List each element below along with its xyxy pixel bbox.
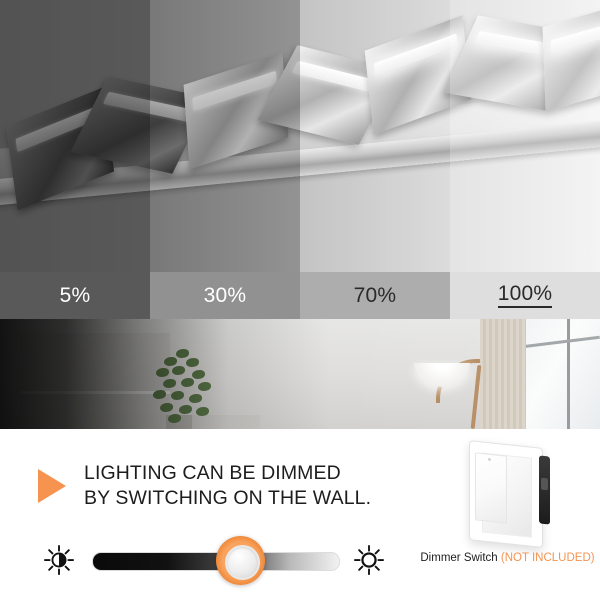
switch-led-indicator-icon [488, 458, 491, 461]
brightness-low-icon [44, 545, 74, 575]
brightness-band-overlay [450, 0, 600, 272]
callout-headline-line2: BY SWITCHING ON THE WALL. [84, 486, 371, 511]
brightness-level-70: 70% [300, 272, 450, 319]
brightness-level-30: 30% [150, 272, 300, 319]
play-triangle-icon [38, 469, 66, 503]
switch-side-slider-nub [541, 478, 548, 491]
brightness-level-100: 100% [450, 272, 600, 319]
dimmer-slider[interactable] [44, 537, 384, 585]
brightness-level-5: 5% [0, 272, 150, 319]
brightness-band-overlay [0, 0, 150, 272]
brightness-level-label: 100% [498, 283, 553, 308]
callout-headline: LIGHTING CAN BE DIMMED BY SWITCHING ON T… [84, 461, 371, 512]
dimmer-switch-product-image [455, 438, 575, 550]
product-infographic: 5% 30% 70% 100% [0, 0, 600, 600]
brightness-level-label: 70% [354, 285, 397, 307]
room-scene-photo [0, 319, 600, 429]
callout-headline-line1: LIGHTING CAN BE DIMMED [84, 461, 371, 486]
brightness-level-label: 5% [60, 285, 91, 307]
dimmer-switch-caption-main: Dimmer Switch [420, 552, 497, 564]
dimmer-switch-caption: Dimmer Switch (NOT INCLUDED) [420, 552, 595, 564]
callout-headline-row: LIGHTING CAN BE DIMMED BY SWITCHING ON T… [38, 461, 371, 512]
dimmer-slider-handle[interactable] [216, 536, 265, 585]
fixture-photo-section [0, 0, 600, 272]
brightness-level-legend: 5% 30% 70% 100% [0, 272, 600, 319]
brightness-band-overlays [0, 0, 600, 272]
dimmer-slider-handle-inner[interactable] [225, 545, 260, 580]
switch-paddle [475, 452, 507, 523]
brightness-band-overlay [150, 0, 300, 272]
callout-panel: LIGHTING CAN BE DIMMED BY SWITCHING ON T… [0, 429, 600, 600]
room-dim-gradient [0, 319, 600, 429]
brightness-level-label: 30% [204, 285, 247, 307]
dimmer-switch-caption-note: (NOT INCLUDED) [501, 552, 595, 564]
brightness-band-overlay [300, 0, 450, 272]
brightness-high-icon [354, 545, 384, 575]
